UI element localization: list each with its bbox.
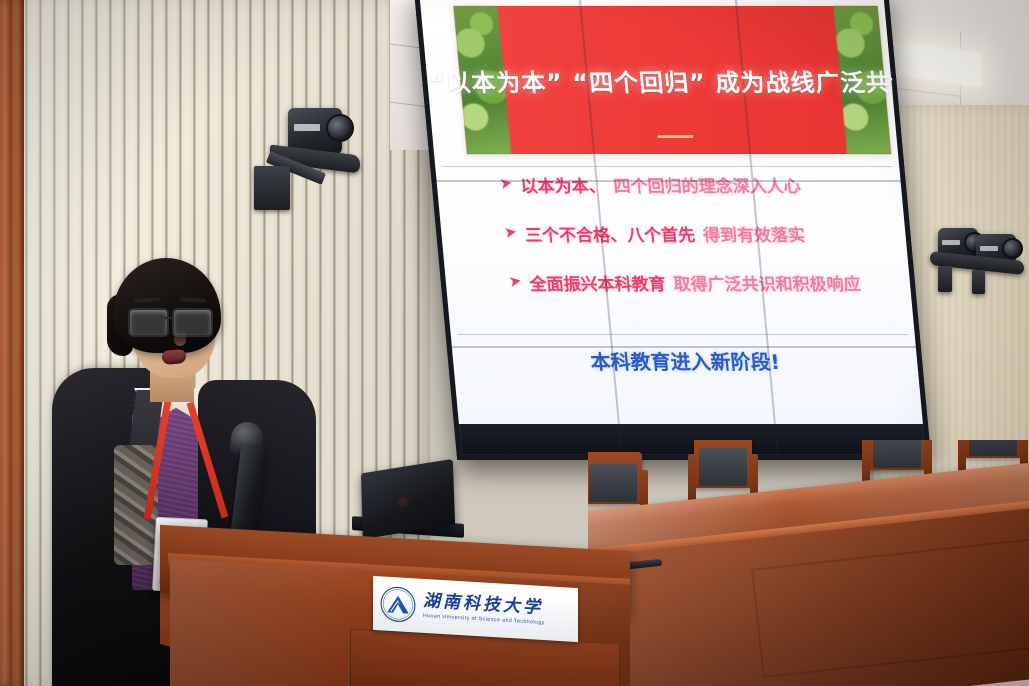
banner-underline [657, 135, 693, 138]
wood-trim-left [0, 0, 24, 686]
hair [113, 258, 221, 353]
bullet-arrow-icon: ➤ [498, 173, 514, 193]
bullet-arrow-icon: ➤ [502, 222, 518, 242]
slide-divider-bottom [458, 334, 908, 335]
list-item: ➤ 三个不合格、八个首先得到有效落实 [503, 221, 889, 246]
slide-title: “以本为本” “四个回归” 成为战线广泛共识 [428, 63, 917, 98]
conference-room-photo: “以本为本” “四个回归” 成为战线广泛共识 ➤ 以本为本、四个回归的理念深入人… [0, 0, 1029, 686]
list-item: ➤ 以本为本、四个回归的理念深入人心 [499, 172, 885, 197]
table-panel-inset [751, 536, 1029, 678]
ptz-camera-right-pair [934, 218, 1029, 318]
bullet-rest: 取得广泛共识和积极响应 [672, 270, 861, 295]
bullet-arrow-icon: ➤ [507, 271, 523, 291]
presentation-slide: “以本为本” “四个回归” 成为战线广泛共识 ➤ 以本为本、四个回归的理念深入人… [418, 0, 924, 424]
video-wall-seam [435, 180, 901, 182]
ptz-camera-left [254, 104, 364, 212]
nose [174, 330, 186, 346]
hnust-mountain-logo-icon [380, 585, 416, 623]
video-wall[interactable]: “以本为本” “四个回归” 成为战线广泛共识 ➤ 以本为本、四个回归的理念深入人… [414, 0, 931, 460]
bullet-lead: 三个不合格、八个首先 [524, 221, 696, 246]
bullet-rest: 得到有效落实 [702, 221, 806, 246]
slide-banner: “以本为本” “四个回归” 成为战线广泛共识 [453, 6, 891, 154]
podium: 湖南科技大学 Hunan University of Science and T… [160, 520, 630, 686]
camera-lens-icon [1002, 238, 1023, 259]
bullet-lead: 以本为本、 [519, 172, 606, 197]
slide-bullet-list: ➤ 以本为本、四个回归的理念深入人心 ➤ 三个不合格、八个首先得到有效落实 ➤ … [499, 172, 897, 319]
camera-lens-icon [326, 114, 354, 142]
slide-divider-top [442, 166, 892, 167]
bullet-lead: 全面振兴本科教育 [528, 270, 666, 295]
bullet-rest: 四个回归的理念深入人心 [612, 172, 801, 197]
slide-closing-line: 本科教育进入新阶段! [451, 346, 920, 375]
video-wall-seam [451, 346, 917, 348]
list-item: ➤ 全面振兴本科教育取得广泛共识和积极响应 [508, 270, 894, 295]
